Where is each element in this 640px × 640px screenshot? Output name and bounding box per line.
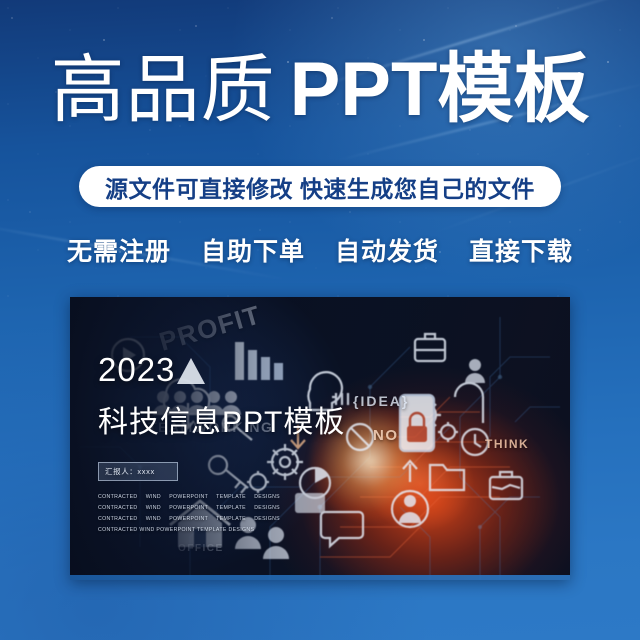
briefcase-icon <box>415 334 445 361</box>
subtitle-pill-label: 源文件可直接修改 快速生成您自己的文件 <box>105 170 535 204</box>
promo-poster: 高品质PPT模板 源文件可直接修改 快速生成您自己的文件 无需注册 自助下单 自… <box>0 0 640 640</box>
gear-icon <box>438 422 458 442</box>
slide-preview-image: PROFIT {IDEA} THINK TEAMWORKING OFFICE N… <box>70 297 570 580</box>
folder-icon <box>430 465 464 490</box>
slide-bottom-accent-bar <box>70 575 570 580</box>
feature-item-auto-delivery: 自动发货 <box>335 232 439 268</box>
feature-item-no-registration: 无需注册 <box>67 232 171 268</box>
person-icon <box>392 491 428 527</box>
subtitle-pill: 源文件可直接修改 快速生成您自己的文件 <box>79 166 561 207</box>
gear-icon <box>455 383 483 423</box>
slide-reporter-field: 汇报人：xxxx <box>98 462 178 481</box>
overlay-word-idea: {IDEA} <box>353 393 409 409</box>
subtitle-pill-wrapper: 源文件可直接修改 快速生成您自己的文件 <box>0 166 640 207</box>
feature-list: 无需注册 自助下单 自动发货 直接下载 <box>0 232 640 268</box>
slide-blurb-text: CONTRACTED WIND POWERPOINT TEMPLATE DESI… <box>98 492 280 536</box>
slide-year-line: 2023 <box>98 353 345 386</box>
feature-item-self-order: 自助下单 <box>201 232 305 268</box>
page-title-bold-part: PPT模板 <box>290 47 590 132</box>
overlay-word-no: NO <box>373 427 399 444</box>
triangle-up-icon <box>177 358 205 384</box>
feature-item-direct-download: 直接下载 <box>469 232 573 268</box>
page-title: 高品质PPT模板 <box>0 52 640 128</box>
briefcase-icon <box>490 472 522 499</box>
overlay-word-think: THINK <box>485 437 529 451</box>
page-title-light-part: 高品质 <box>51 48 276 131</box>
slide-text-block: 2023 科技信息PPT模板 汇报人：xxxx CONTRACTED WIND … <box>98 353 345 536</box>
slide-title: 科技信息PPT模板 <box>98 408 345 438</box>
prohibited-sign-icon <box>347 424 373 450</box>
slide-year-value: 2023 <box>98 353 175 386</box>
